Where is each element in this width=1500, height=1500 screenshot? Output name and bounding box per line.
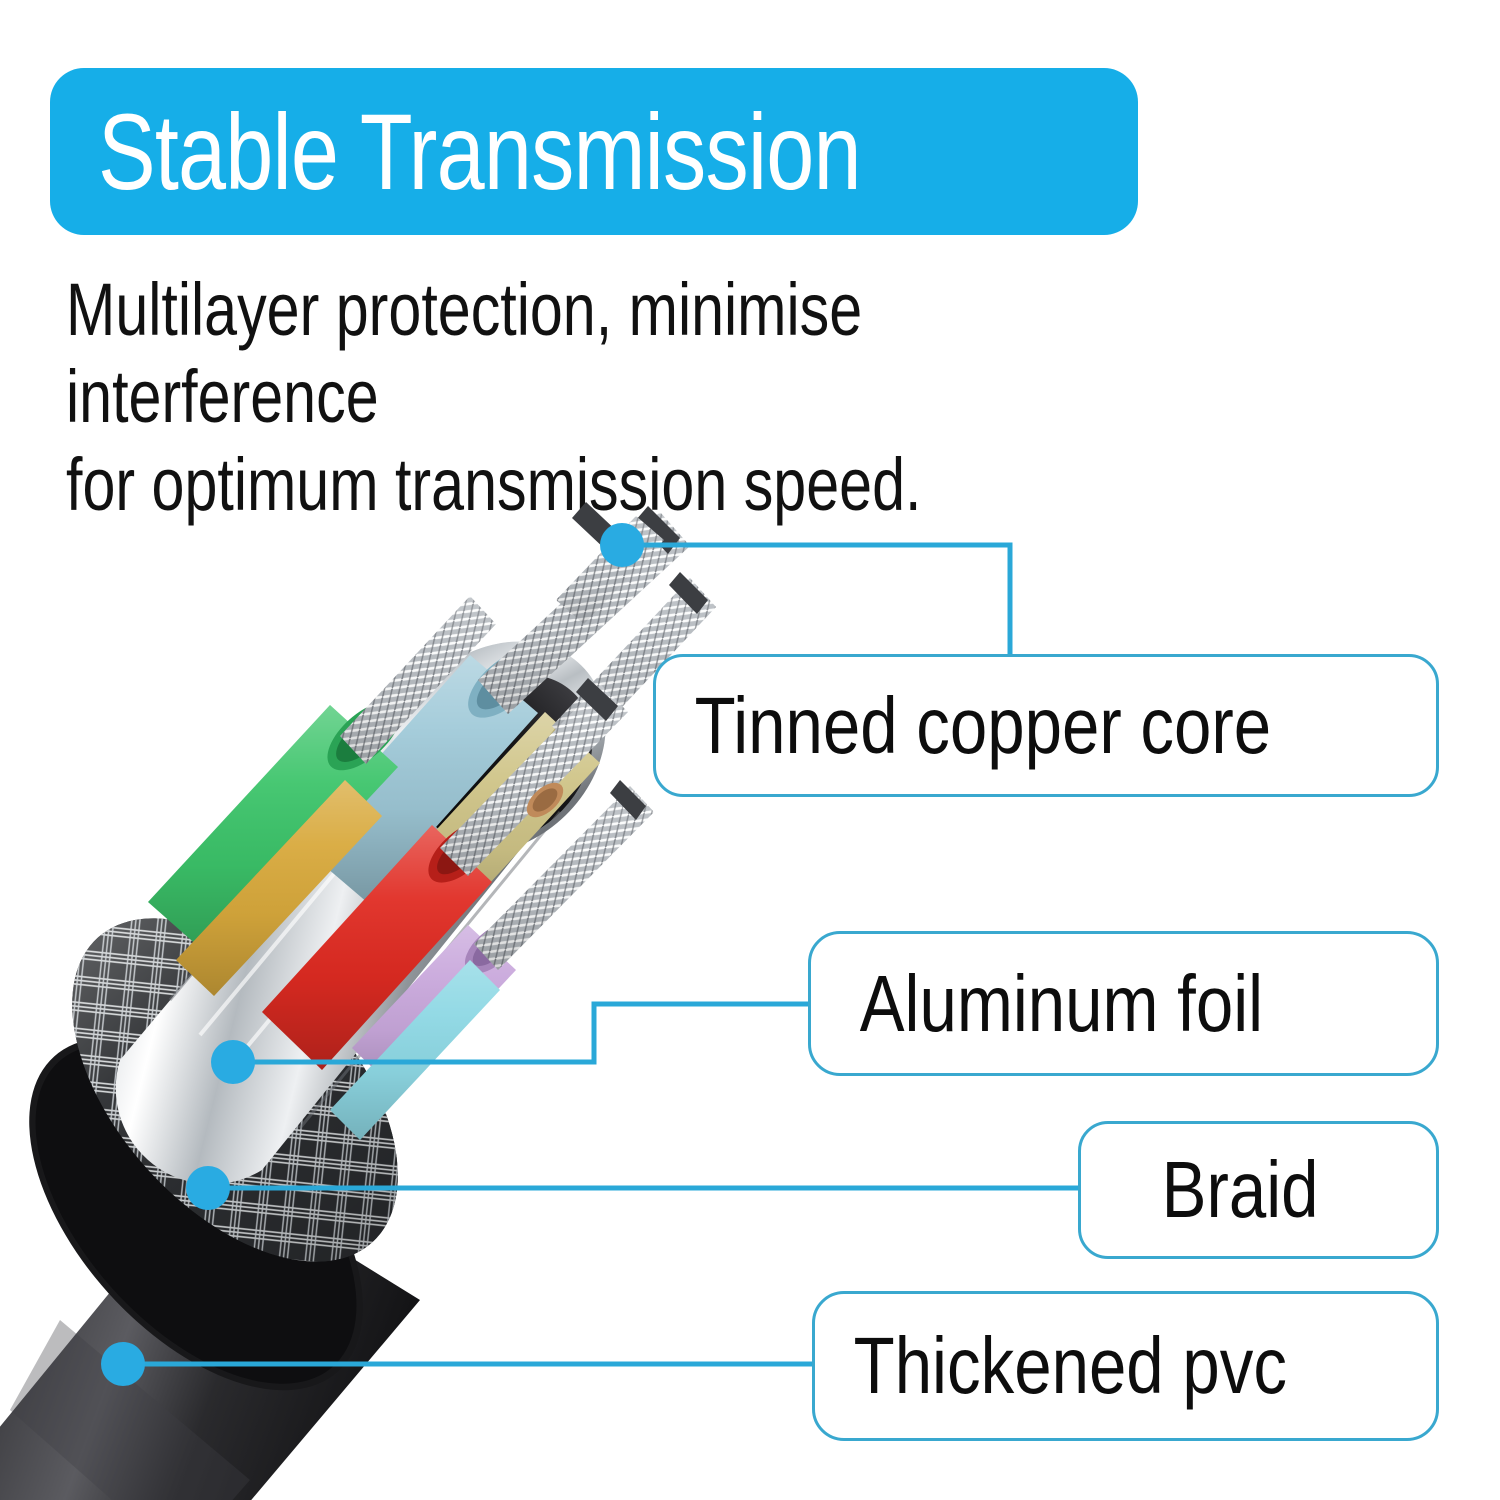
leader-line-core <box>622 545 1010 656</box>
leader-line-foil <box>233 1004 810 1062</box>
leader-dot-foil <box>211 1040 255 1084</box>
leader-dot-core <box>600 523 644 567</box>
leader-dot-pvc <box>101 1342 145 1386</box>
callout-aluminum-foil: Aluminum foil <box>808 931 1439 1076</box>
callout-label-foil: Aluminum foil <box>811 958 1263 1050</box>
infographic-canvas: Stable Transmission Multilayer protectio… <box>0 0 1500 1500</box>
callout-thickened-pvc: Thickened pvc <box>812 1291 1439 1441</box>
leader-dot-braid <box>186 1166 230 1210</box>
callout-braid: Braid <box>1078 1121 1439 1259</box>
callout-label-pvc: Thickened pvc <box>815 1320 1287 1412</box>
callout-label-core: Tinned copper core <box>656 680 1271 772</box>
callout-tinned-copper-core: Tinned copper core <box>653 654 1439 797</box>
callout-label-braid: Braid <box>1081 1144 1319 1236</box>
